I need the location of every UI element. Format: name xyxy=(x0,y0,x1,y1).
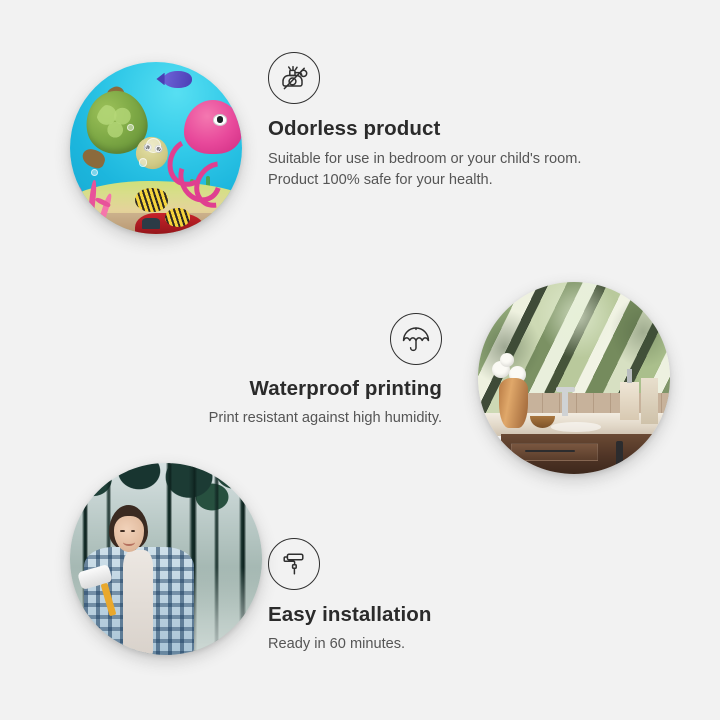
striped-fish xyxy=(135,188,168,212)
feature-description: Ready in 60 minutes. xyxy=(268,634,568,655)
woman-smile xyxy=(123,539,135,547)
feature-showcase-canvas: Odorless product Suitable for use in bed… xyxy=(0,0,720,720)
bubble xyxy=(91,169,98,176)
soap-dispenser xyxy=(620,382,639,420)
wood-vanity-cabinet xyxy=(501,434,670,474)
bubble xyxy=(127,124,134,131)
feature-description: Suitable for use in bedroom or your chil… xyxy=(268,149,608,190)
sink-basin xyxy=(551,422,601,432)
umbrella-icon xyxy=(390,313,442,365)
white-tee xyxy=(123,550,153,655)
underwater-scene xyxy=(70,62,242,234)
medallion-image-forest xyxy=(70,463,262,655)
feature-description: Print resistant against high humidity. xyxy=(140,408,442,429)
forest-scene xyxy=(70,463,262,655)
coral-branch xyxy=(87,179,98,227)
no-perfume-spray-icon xyxy=(268,52,320,104)
woman-with-paint-roller xyxy=(82,505,197,655)
woman-eye xyxy=(131,530,135,532)
vanity-drawer xyxy=(511,443,597,462)
bathroom-scene xyxy=(478,282,670,474)
feature-title: Waterproof printing xyxy=(140,377,442,401)
octopus xyxy=(166,100,242,196)
feature-easy-installation: Easy installation Ready in 60 minutes. xyxy=(268,538,568,655)
flower-bloom xyxy=(500,353,514,367)
cabinet-handle xyxy=(616,441,623,466)
woman-face xyxy=(114,516,144,552)
hand-towel xyxy=(641,378,658,424)
blue-fish xyxy=(163,71,192,88)
feature-title: Easy installation xyxy=(268,603,568,627)
feature-odorless: Odorless product Suitable for use in bed… xyxy=(268,52,608,190)
drawer-handle xyxy=(525,450,576,452)
faucet xyxy=(562,391,568,416)
feature-waterproof: Waterproof printing Print resistant agai… xyxy=(140,313,442,429)
medallion-image-sea xyxy=(70,62,242,234)
copper-vase xyxy=(499,378,528,428)
woman-eye xyxy=(120,530,124,532)
octopus-head xyxy=(184,100,242,154)
medallion-image-bathroom xyxy=(478,282,670,474)
octopus-eye xyxy=(213,114,227,126)
pink-coral xyxy=(72,176,130,228)
sea-turtle xyxy=(80,91,169,170)
feature-title: Odorless product xyxy=(268,117,608,141)
striped-fish xyxy=(165,208,191,227)
paint-roller-icon xyxy=(268,538,320,590)
